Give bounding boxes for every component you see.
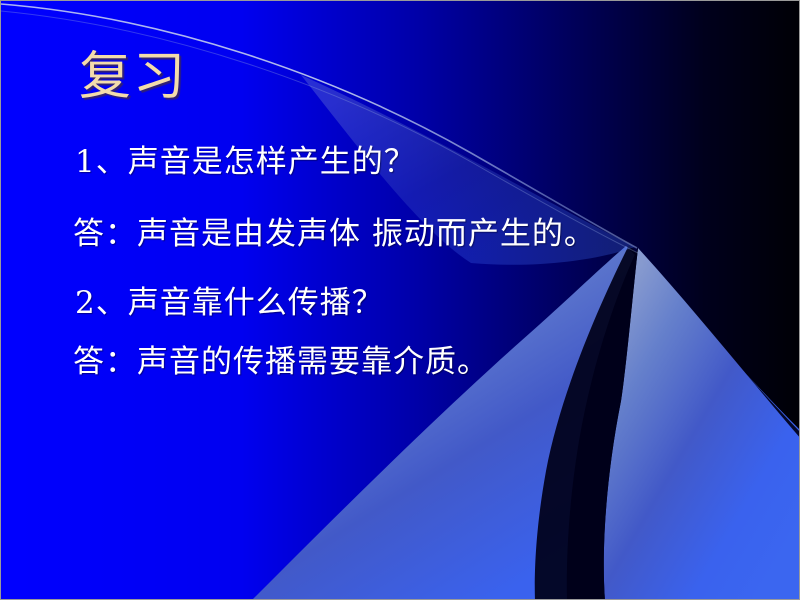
page-title: 复习: [79, 49, 187, 106]
question-1-text: 1、声音是怎样产生的？: [75, 145, 416, 181]
slide-content: 复习 1、声音是怎样产生的？ 答：声音是由发声体 振动而产生的。 2、声音靠什么…: [1, 1, 800, 600]
presentation-slide: 复习 1、声音是怎样产生的？ 答：声音是由发声体 振动而产生的。 2、声音靠什么…: [0, 0, 800, 600]
answer-2-text: 答：声音的传播需要靠介质。: [73, 345, 489, 381]
question-2-text: 2、声音靠什么传播？: [75, 286, 384, 322]
answer-1-text: 答：声音是由发声体 振动而产生的。: [73, 217, 596, 253]
